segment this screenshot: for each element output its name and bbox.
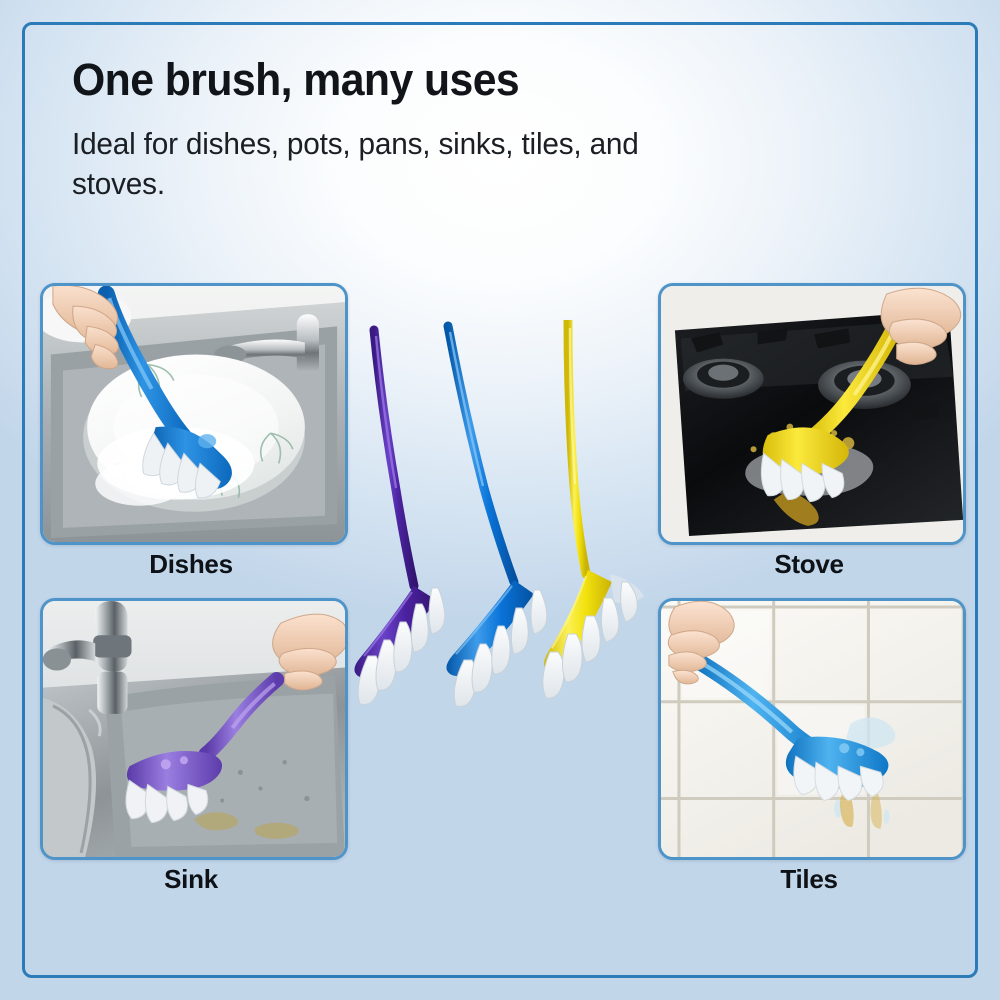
photo-tile-sink: [40, 598, 348, 860]
brush-yellow: [543, 320, 644, 698]
caption-tiles: Tiles: [658, 864, 960, 895]
photo-dishes: [43, 286, 345, 542]
brush-blue: [446, 326, 546, 707]
photo-tile-tiles: [658, 598, 966, 860]
product-brush-group: [352, 320, 672, 790]
caption-sink: Sink: [40, 864, 342, 895]
photo-tile-dishes: [40, 283, 348, 545]
caption-dishes: Dishes: [40, 549, 342, 580]
photo-stove: [661, 286, 963, 542]
photo-tiles: [661, 601, 963, 857]
page-subtitle: Ideal for dishes, pots, pans, sinks, til…: [72, 124, 706, 205]
page-title: One brush, many uses: [72, 56, 756, 103]
photo-tile-stove: [658, 283, 966, 545]
product-infographic-card: One brush, many uses Ideal for dishes, p…: [0, 0, 1000, 1000]
brush-purple: [354, 330, 444, 705]
photo-sink: [43, 601, 345, 857]
caption-stove: Stove: [658, 549, 960, 580]
